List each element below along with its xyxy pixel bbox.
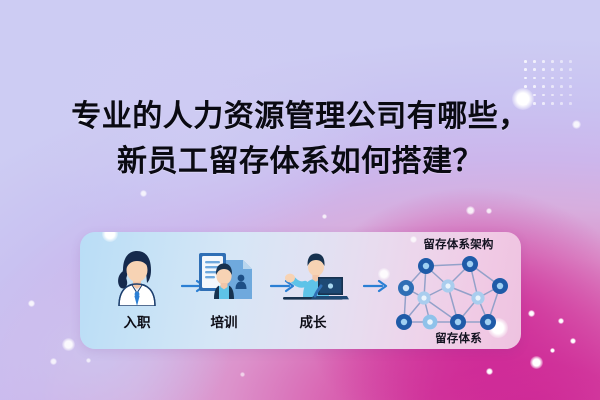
glow-dot [62,338,75,351]
step-label: 成长 [270,311,356,331]
glow-dot [528,310,535,317]
glow-dot [322,214,327,219]
graph-title: 留存体系架构 [396,236,521,252]
glow-dot [140,190,147,197]
step-growth[interactable]: 成长 [270,244,356,331]
glow-dot [558,318,564,324]
glow-dot [50,358,57,365]
glow-dot [28,300,35,307]
glow-dot [486,208,492,214]
glow-dot [530,356,543,369]
retention-network-graph: 留存体系架构 [396,236,521,346]
step-onboarding[interactable]: 入职 [94,244,180,331]
process-card: 入职 [80,232,521,349]
step-label: 入职 [94,311,180,331]
employee-white-shirt-tie-icon [94,244,180,306]
training-documents-person-icon [181,244,267,306]
graph-caption: 留存体系 [396,330,521,346]
glow-dot [240,372,245,377]
glow-dot [466,206,475,215]
network-graph-icon [396,252,521,332]
step-training[interactable]: 培训 [181,244,267,331]
step-label: 培训 [181,311,267,331]
glow-dot [486,368,493,375]
glow-dot [570,338,576,344]
glow-dot [86,358,91,363]
headline-line-2: 新员工留存体系如何搭建？ [0,139,600,184]
page-title: 专业的人力资源管理公司有哪些， 新员工留存体系如何搭建？ [0,94,600,184]
person-at-laptop-icon [270,244,356,306]
process-steps: 入职 [80,232,420,349]
arrow-right-icon [363,278,389,294]
headline-line-1: 专业的人力资源管理公司有哪些， [71,100,529,133]
glow-dot [550,348,555,353]
poster-canvas: 专业的人力资源管理公司有哪些， 新员工留存体系如何搭建？ [0,0,600,400]
